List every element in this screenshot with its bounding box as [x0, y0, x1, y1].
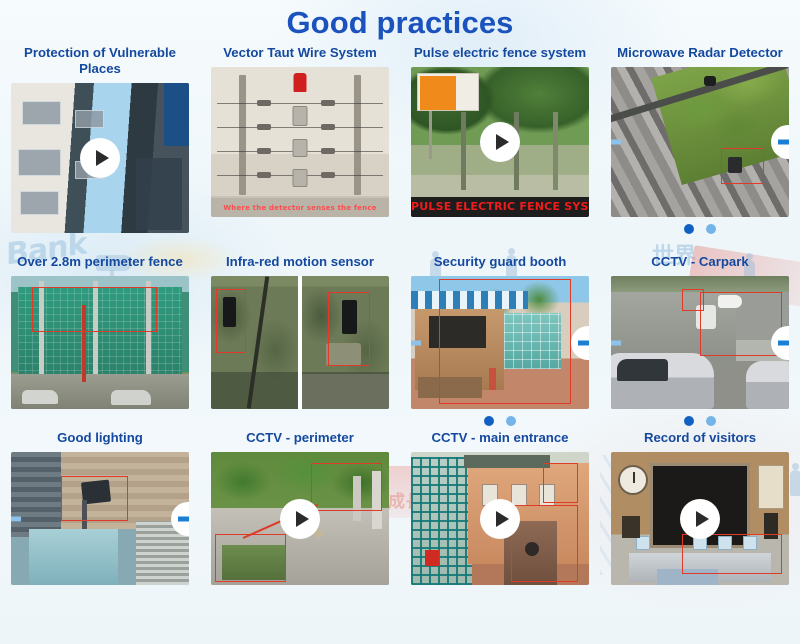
card-media[interactable] [11, 452, 189, 585]
practices-row: Good lighting [0, 430, 800, 585]
photo-pair-wrapper [211, 276, 389, 409]
card-media[interactable] [611, 67, 789, 217]
practice-card-record-of-visitors[interactable]: Record of visitors [600, 430, 800, 585]
card-media[interactable]: PULSE ELECTRIC FENCE SYSTEM [411, 67, 589, 217]
card-label: Infra-red motion sensor [200, 254, 400, 270]
play-icon[interactable] [280, 499, 320, 539]
card-media[interactable] [11, 83, 189, 233]
card-media[interactable]: Where the detector senses the fence [211, 67, 389, 217]
play-icon[interactable] [480, 122, 520, 162]
photo-cctv-carpark [611, 276, 789, 409]
card-label: CCTV - Carpark [600, 254, 800, 270]
play-icon[interactable] [480, 499, 520, 539]
practices-row: Over 2.8m perimeter fence Infra-red moti… [0, 254, 800, 430]
practice-card-over-2-8m-perimeter-fence[interactable]: Over 2.8m perimeter fence [0, 254, 200, 430]
photo-caption: PULSE ELECTRIC FENCE SYSTEM [411, 197, 589, 217]
photo-security-guard-booth [411, 276, 589, 409]
pagination-dot[interactable] [506, 416, 516, 426]
card-label: Vector Taut Wire System [200, 45, 400, 61]
pagination-dot[interactable] [484, 416, 494, 426]
card-label: CCTV - perimeter [200, 430, 400, 446]
practice-card-cctv-carpark[interactable]: CCTV - Carpark [600, 254, 800, 430]
card-label: Record of visitors [600, 430, 800, 446]
card-label: Over 2.8m perimeter fence [0, 254, 200, 270]
practices-row: Protection of Vulnerable Places Vector T… [0, 45, 800, 254]
practice-card-microwave-radar-detector[interactable]: Microwave Radar Detector [600, 45, 800, 254]
card-media[interactable] [411, 452, 589, 585]
wall-clock [618, 465, 648, 495]
photo-caption: Where the detector senses the fence [211, 204, 389, 213]
card-label: Pulse electric fence system [400, 45, 600, 61]
practice-card-cctv-perimeter[interactable]: CCTV - perimeter [200, 430, 400, 585]
pagination-dot[interactable] [706, 416, 716, 426]
practice-card-good-lighting[interactable]: Good lighting [0, 430, 200, 585]
pagination-dot[interactable] [706, 224, 716, 234]
card-label: CCTV - main entrance [400, 430, 600, 446]
card-label: Good lighting [0, 430, 200, 446]
card-label: Security guard booth [400, 254, 600, 270]
photo-microwave-radar-wall [611, 67, 789, 217]
photo-ir-sensor-left [211, 276, 298, 409]
card-media[interactable] [211, 276, 389, 409]
practice-card-protection-of-vulnerable-places[interactable]: Protection of Vulnerable Places [0, 45, 200, 254]
play-icon[interactable] [680, 499, 720, 539]
card-media[interactable] [611, 452, 789, 585]
photo-taut-wire-rig [211, 67, 389, 217]
play-icon[interactable] [80, 138, 120, 178]
photo-green-perimeter-fence [11, 276, 189, 409]
practice-card-cctv-main-entrance[interactable]: CCTV - main entrance [400, 430, 600, 585]
orange-warning-sign [417, 73, 479, 111]
card-label: Microwave Radar Detector [600, 45, 800, 61]
practice-card-infra-red-motion-sensor[interactable]: Infra-red motion sensor [200, 254, 400, 430]
card-media[interactable] [11, 276, 189, 409]
photo-ir-sensor-right [302, 276, 389, 409]
carousel-pagination[interactable] [484, 412, 516, 430]
card-media[interactable] [411, 276, 589, 409]
card-label: Protection of Vulnerable Places [0, 45, 200, 77]
carousel-pagination[interactable] [684, 412, 716, 430]
practice-card-security-guard-booth[interactable]: Security guard booth [400, 254, 600, 430]
page-title: Good practices [0, 0, 800, 45]
pagination-dot[interactable] [684, 416, 694, 426]
practice-card-pulse-electric-fence-system[interactable]: Pulse electric fence system PULSE ELECTR… [400, 45, 600, 254]
card-media[interactable] [611, 276, 789, 409]
carousel-pagination[interactable] [684, 220, 716, 238]
card-media[interactable] [211, 452, 389, 585]
pagination-dot[interactable] [684, 224, 694, 234]
photo-good-lighting [11, 452, 189, 585]
practice-card-vector-taut-wire-system[interactable]: Vector Taut Wire System [200, 45, 400, 254]
